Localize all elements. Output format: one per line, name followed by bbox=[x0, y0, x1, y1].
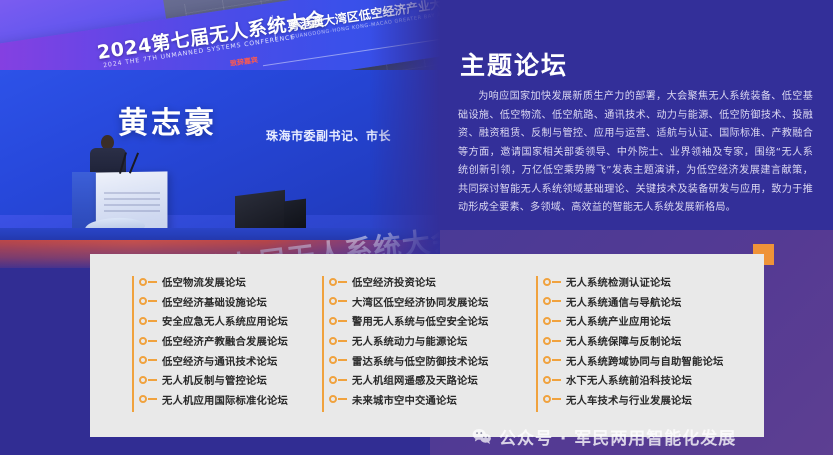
timeline-tick-icon bbox=[148, 320, 157, 322]
forum-label: 无人机反制与管控论坛 bbox=[162, 372, 267, 387]
forum-label: 未来城市空中交通论坛 bbox=[352, 392, 457, 407]
forum-label: 无人系统动力与能源论坛 bbox=[352, 333, 467, 348]
timeline-dot-icon bbox=[139, 337, 147, 345]
watermark: 公众号 · 军民两用智能化发展 bbox=[472, 424, 736, 449]
forum-label: 水下无人系统前沿科技论坛 bbox=[566, 372, 692, 387]
forum-label: 低空物流发展论坛 bbox=[162, 274, 246, 289]
forum-label: 无人车技术与行业发展论坛 bbox=[566, 392, 692, 407]
forum-column-3: 无人系统检测认证论坛 无人系统通信与导航论坛 无人系统产业应用论坛 无人系统保障… bbox=[526, 272, 764, 437]
forum-label: 无人机组网遥感及天路论坛 bbox=[352, 372, 478, 387]
list-item[interactable]: 低空经济投资论坛 bbox=[318, 272, 526, 292]
timeline-dot-icon bbox=[543, 395, 551, 403]
forum-label: 大湾区低空经济协同发展论坛 bbox=[352, 294, 488, 309]
list-item[interactable]: 低空经济产教融合发展论坛 bbox=[100, 331, 308, 351]
list-item[interactable]: 低空经济与通讯技术论坛 bbox=[100, 350, 308, 370]
timeline-dot-icon bbox=[543, 337, 551, 345]
list-item[interactable]: 无人系统检测认证论坛 bbox=[536, 272, 764, 292]
article-body: 为响应国家加快发展新质生产力的部署，大会聚焦无人系统装备、低空基础设施、低空物流… bbox=[458, 88, 813, 218]
timeline-dot-icon bbox=[329, 376, 337, 384]
slide-canvas: 2024第七届无人系统大会 2024 THE 7TH UNMANNED SYST… bbox=[0, 0, 833, 455]
timeline-tick-icon bbox=[148, 340, 157, 342]
timeline-dot-icon bbox=[543, 317, 551, 325]
timeline-tick-icon bbox=[552, 281, 561, 283]
timeline-tick-icon bbox=[338, 359, 347, 361]
list-item[interactable]: 无人系统跨域协同与自助智能论坛 bbox=[536, 350, 764, 370]
podium-graphic bbox=[104, 190, 160, 212]
forum-label: 安全应急无人系统应用论坛 bbox=[162, 313, 288, 328]
list-item[interactable]: 无人系统通信与导航论坛 bbox=[536, 292, 764, 312]
timeline-dot-icon bbox=[543, 297, 551, 305]
list-item[interactable]: 无人系统保障与反制论坛 bbox=[536, 331, 764, 351]
forum-label: 无人系统检测认证论坛 bbox=[566, 274, 671, 289]
list-item[interactable]: 大湾区低空经济协同发展论坛 bbox=[318, 292, 526, 312]
list-item[interactable]: 无人系统动力与能源论坛 bbox=[318, 331, 526, 351]
forum-label: 低空经济产教融合发展论坛 bbox=[162, 333, 288, 348]
forum-label: 无人系统通信与导航论坛 bbox=[566, 294, 681, 309]
timeline-tick-icon bbox=[148, 281, 157, 283]
list-item[interactable]: 雷达系统与低空防御技术论坛 bbox=[318, 350, 526, 370]
page-title: 主题论坛 bbox=[460, 46, 568, 82]
watermark-text: 公众号 · 军民两用智能化发展 bbox=[499, 424, 736, 449]
list-item[interactable]: 未来城市空中交通论坛 bbox=[318, 390, 526, 410]
timeline-tick-icon bbox=[552, 340, 561, 342]
timeline-dot-icon bbox=[543, 278, 551, 286]
list-item[interactable]: 无人机反制与管控论坛 bbox=[100, 370, 308, 390]
forum-column-1: 低空物流发展论坛 低空经济基础设施论坛 安全应急无人系统应用论坛 低空经济产教融… bbox=[90, 272, 308, 437]
timeline-tick-icon bbox=[148, 359, 157, 361]
list-item[interactable]: 无人机组网遥感及天路论坛 bbox=[318, 370, 526, 390]
timeline-dot-icon bbox=[329, 337, 337, 345]
timeline-dot-icon bbox=[139, 278, 147, 286]
timeline-dot-icon bbox=[139, 317, 147, 325]
list-item[interactable]: 低空物流发展论坛 bbox=[100, 272, 308, 292]
forum-label: 低空经济投资论坛 bbox=[352, 274, 436, 289]
timeline-dot-icon bbox=[329, 395, 337, 403]
timeline-dot-icon bbox=[329, 297, 337, 305]
speaker-name: 黄志豪 bbox=[118, 98, 217, 142]
forum-label: 无人机应用国际标准化论坛 bbox=[162, 392, 288, 407]
photo-fade-right bbox=[370, 0, 440, 268]
timeline-tick-icon bbox=[338, 320, 347, 322]
list-item[interactable]: 警用无人系统与低空安全论坛 bbox=[318, 311, 526, 331]
forum-label: 警用无人系统与低空安全论坛 bbox=[352, 313, 488, 328]
timeline-tick-icon bbox=[552, 379, 561, 381]
timeline-dot-icon bbox=[543, 356, 551, 364]
forum-label: 雷达系统与低空防御技术论坛 bbox=[352, 353, 488, 368]
timeline-dot-icon bbox=[139, 356, 147, 364]
forum-label: 低空经济基础设施论坛 bbox=[162, 294, 267, 309]
timeline-dot-icon bbox=[139, 376, 147, 384]
timeline-tick-icon bbox=[552, 300, 561, 302]
list-item[interactable]: 低空经济基础设施论坛 bbox=[100, 292, 308, 312]
timeline-dot-icon bbox=[139, 395, 147, 403]
timeline-tick-icon bbox=[338, 340, 347, 342]
forum-label: 低空经济与通讯技术论坛 bbox=[162, 353, 277, 368]
timeline-tick-icon bbox=[552, 320, 561, 322]
forum-label: 无人系统保障与反制论坛 bbox=[566, 333, 681, 348]
timeline-tick-icon bbox=[148, 379, 157, 381]
list-item[interactable]: 安全应急无人系统应用论坛 bbox=[100, 311, 308, 331]
timeline-tick-icon bbox=[148, 300, 157, 302]
timeline-tick-icon bbox=[338, 281, 347, 283]
timeline-tick-icon bbox=[338, 398, 347, 400]
timeline-dot-icon bbox=[329, 278, 337, 286]
forum-list-panel: 低空物流发展论坛 低空经济基础设施论坛 安全应急无人系统应用论坛 低空经济产教融… bbox=[90, 254, 764, 437]
timeline-dot-icon bbox=[543, 376, 551, 384]
forum-label: 无人系统产业应用论坛 bbox=[566, 313, 671, 328]
timeline-tick-icon bbox=[552, 398, 561, 400]
article-column: 主题论坛 为响应国家加快发展新质生产力的部署，大会聚焦无人系统装备、低空基础设施… bbox=[440, 0, 833, 240]
list-item[interactable]: 水下无人系统前沿科技论坛 bbox=[536, 370, 764, 390]
wechat-icon bbox=[472, 428, 492, 445]
conference-photo: 2024第七届无人系统大会 2024 THE 7TH UNMANNED SYST… bbox=[0, 0, 440, 268]
timeline-tick-icon bbox=[338, 300, 347, 302]
forum-column-2: 低空经济投资论坛 大湾区低空经济协同发展论坛 警用无人系统与低空安全论坛 无人系… bbox=[308, 272, 526, 437]
timeline-dot-icon bbox=[329, 356, 337, 364]
timeline-tick-icon bbox=[148, 398, 157, 400]
list-item[interactable]: 无人车技术与行业发展论坛 bbox=[536, 390, 764, 410]
forum-columns: 低空物流发展论坛 低空经济基础设施论坛 安全应急无人系统应用论坛 低空经济产教融… bbox=[90, 254, 764, 437]
timeline-dot-icon bbox=[139, 297, 147, 305]
timeline-tick-icon bbox=[338, 379, 347, 381]
list-item[interactable]: 无人机应用国际标准化论坛 bbox=[100, 390, 308, 410]
list-item[interactable]: 无人系统产业应用论坛 bbox=[536, 311, 764, 331]
timeline-dot-icon bbox=[329, 317, 337, 325]
timeline-tick-icon bbox=[552, 359, 561, 361]
forum-label: 无人系统跨域协同与自助智能论坛 bbox=[566, 353, 723, 368]
